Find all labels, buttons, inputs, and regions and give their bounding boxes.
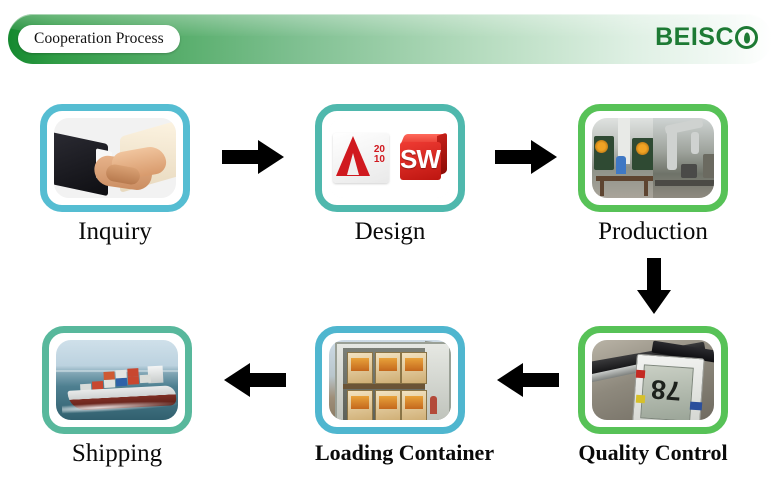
step-shipping[interactable]: Shipping	[42, 326, 192, 468]
step-label-shipping: Shipping	[42, 440, 192, 468]
page-title: Cooperation Process	[34, 30, 164, 48]
step-quality-control[interactable]: 78 Quality Control	[578, 326, 728, 466]
step-label-inquiry: Inquiry	[40, 218, 190, 246]
handshake-photo	[54, 118, 176, 198]
arrow-production-quality	[637, 258, 671, 314]
solidworks-logo: SW	[397, 133, 447, 183]
step-inquiry[interactable]: Inquiry	[40, 104, 190, 246]
brand-logo: BEISC	[655, 23, 758, 52]
loaded-shipping-container-photo	[329, 340, 451, 420]
step-loading-container[interactable]: Loading Container	[315, 326, 465, 466]
arrow-inquiry-design	[222, 140, 284, 174]
step-label-production: Production	[578, 218, 728, 246]
brand-logo-text: BEISC	[655, 23, 734, 52]
step-label-design: Design	[315, 218, 465, 246]
production-thumbnail[interactable]	[578, 104, 728, 212]
arrow-loading-shipping	[224, 363, 286, 397]
page-title-pill: Cooperation Process	[18, 25, 180, 53]
step-label-quality-control: Quality Control	[578, 440, 728, 466]
loading-container-thumbnail[interactable]	[315, 326, 465, 434]
caliper-reading: 78	[641, 374, 691, 404]
autocad-year-bottom: 10	[374, 155, 385, 165]
autocad-logo: 20 10	[333, 133, 389, 183]
arrow-quality-loading	[497, 363, 559, 397]
arrow-design-production	[495, 140, 557, 174]
quality-control-thumbnail[interactable]: 78	[578, 326, 728, 434]
cad-software-logos: 20 10 SW	[329, 118, 451, 198]
digital-caliper-photo: 78	[592, 340, 714, 420]
circle-leaf-o-icon	[735, 26, 758, 49]
factory-workshop-photo	[592, 118, 714, 198]
design-thumbnail[interactable]: 20 10 SW	[315, 104, 465, 212]
solidworks-logo-text: SW	[397, 146, 443, 172]
shipping-thumbnail[interactable]	[42, 326, 192, 434]
inquiry-thumbnail[interactable]	[40, 104, 190, 212]
container-ship-at-sea-photo	[56, 340, 178, 420]
step-production[interactable]: Production	[578, 104, 728, 246]
step-design[interactable]: 20 10 SW Design	[315, 104, 465, 246]
step-label-loading-container: Loading Container	[315, 440, 465, 466]
